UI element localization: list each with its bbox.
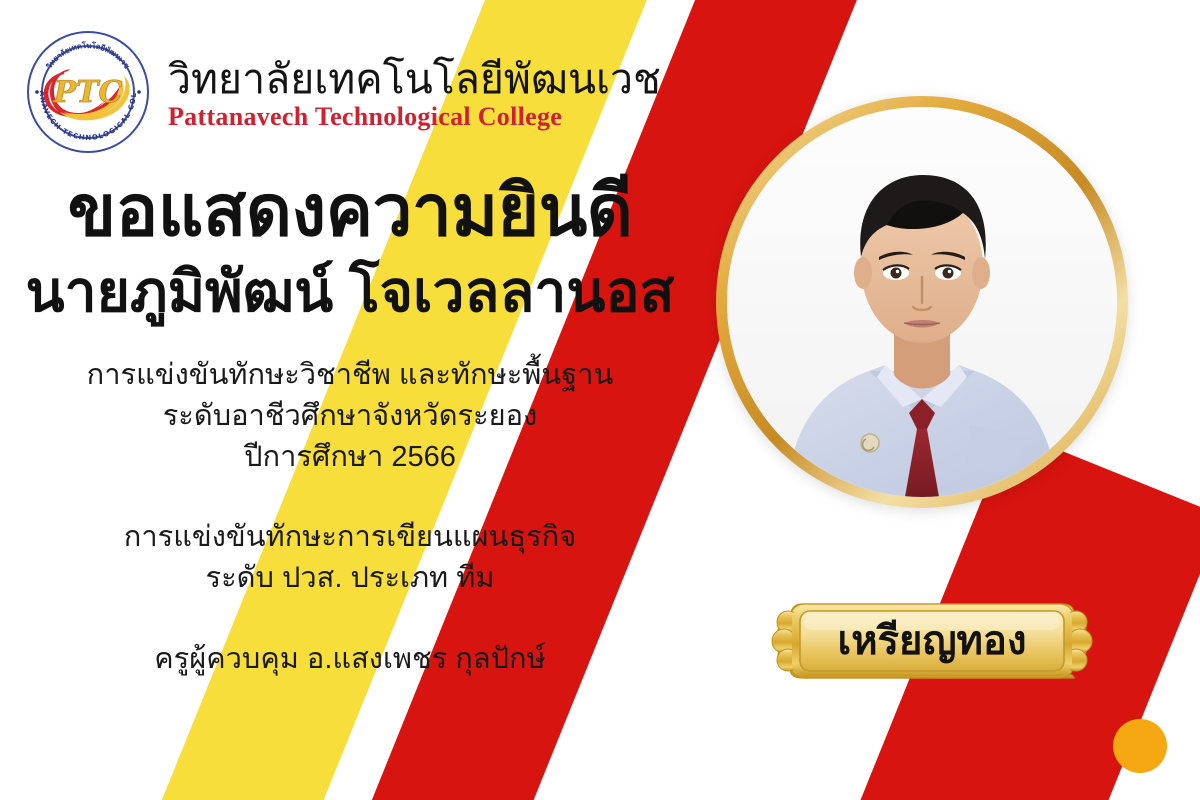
page-title: ขอแสดงความยินดี [0,172,700,252]
award-badge-label: เหรียญทอง [768,598,1096,684]
competition-details: การแข่งขันทักษะการเขียนแผนธุรกิจ ระดับ ป… [0,517,700,599]
competition-line: ระดับ ปวส. ประเภท ทีม [0,558,700,599]
college-header: วิทยาลัยเทคโนโลยีพัฒนเวช PATTANAVECH TEC… [24,28,661,156]
event-line: การแข่งขันทักษะวิชาชีพ และทักษะพื้นฐาน [0,355,700,396]
event-line: ปีการศึกษา 2566 [0,437,700,478]
svg-text:PTC: PTC [53,75,123,110]
ptc-logo-icon: วิทยาลัยเทคโนโลยีพัฒนเวช PATTANAVECH TEC… [24,28,152,156]
event-line: ระดับอาชีวศึกษาจังหวัดระยอง [0,396,700,437]
congratulations-poster: วิทยาลัยเทคโนโลยีพัฒนเวช PATTANAVECH TEC… [0,0,1200,800]
competition-line: การแข่งขันทักษะการเขียนแผนธุรกิจ [0,517,700,558]
student-photo [727,107,1117,497]
college-name-thai: วิทยาลัยเทคโนโลยีพัฒนเวช [168,58,661,101]
event-details: การแข่งขันทักษะวิชาชีพ และทักษะพื้นฐาน ร… [0,355,700,479]
portrait-gold-frame [716,96,1128,508]
college-name-english: Pattanavech Technological College [168,103,661,132]
advisor-details: ครูผู้ควบคุม อ.แสงเพชร กุลปักษ์ [0,639,700,680]
advisor-line: ครูผู้ควบคุม อ.แสงเพชร กุลปักษ์ [0,639,700,680]
award-badge: เหรียญทอง [768,598,1096,684]
orange-circle-decoration [1113,719,1167,773]
main-content: ขอแสดงความยินดี นายภูมิพัฒน์ โจเวลลานอส … [0,172,700,680]
honoree-name: นายภูมิพัฒน์ โจเวลลานอส [0,260,700,326]
